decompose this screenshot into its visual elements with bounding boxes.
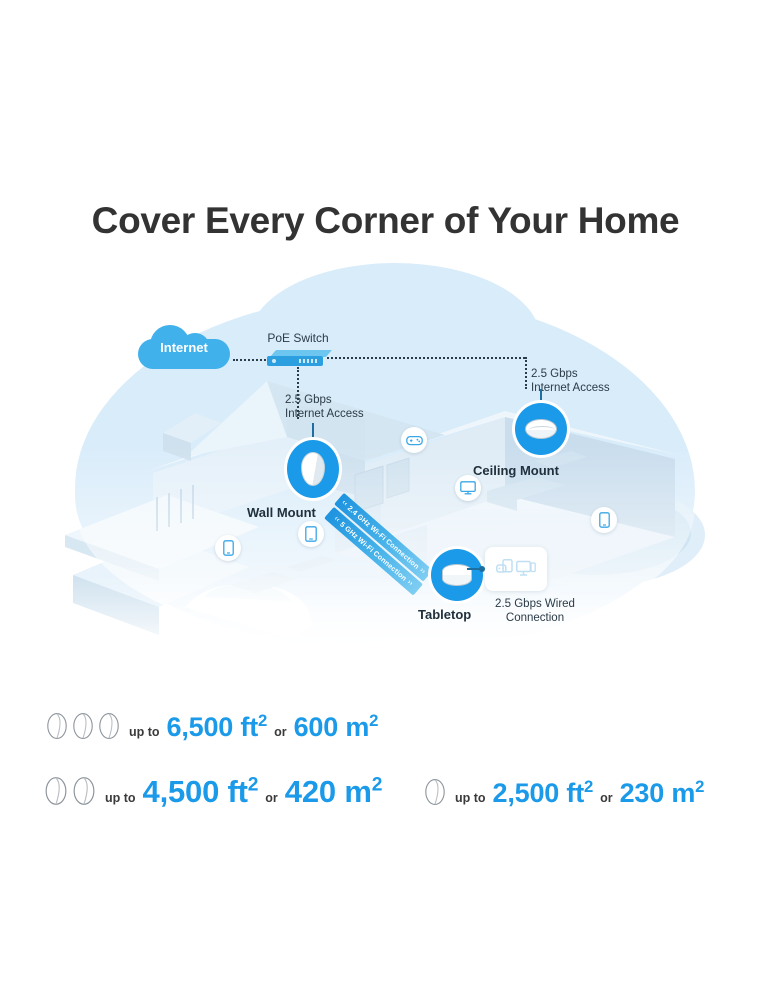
chevron-right-icon: ›› xyxy=(404,577,417,590)
smartphone-icon xyxy=(223,540,234,556)
ap-outline-icon xyxy=(424,778,446,806)
coverage-sqm-value: 420 m2 xyxy=(285,774,382,810)
wall-mount-label: Wall Mount xyxy=(247,505,316,520)
sqft-superscript: 2 xyxy=(248,775,258,796)
pack-icons-three xyxy=(46,712,120,740)
ap-outline-icon xyxy=(46,712,68,740)
coverage-or-label: or xyxy=(265,791,278,805)
ap-outline-icon xyxy=(44,776,68,806)
pack-icons-one xyxy=(424,778,446,806)
ap-outline-icon xyxy=(98,712,120,740)
ap-outline-icon xyxy=(72,776,96,806)
sqft-superscript: 2 xyxy=(258,711,267,730)
coverage-upto-label: up to xyxy=(455,791,486,805)
client-badge-garage-phone xyxy=(215,535,241,561)
coverage-or-label: or xyxy=(600,791,613,805)
coverage-sqm-value: 230 m2 xyxy=(620,777,705,809)
client-badge-living-gamepad xyxy=(401,427,427,453)
coverage-sqm-value: 600 m2 xyxy=(294,711,379,743)
sqm-superscript: 2 xyxy=(372,775,382,796)
monitor-icon xyxy=(516,560,536,578)
wall-mount-access-point[interactable] xyxy=(287,440,339,498)
tabletop-note-line1: 2.5 Gbps Wired xyxy=(475,597,595,611)
monitor-icon xyxy=(460,481,476,495)
coverage-upto-label: up to xyxy=(105,791,136,805)
sqm-superscript: 2 xyxy=(695,777,704,796)
egg-shaped-ap-icon xyxy=(301,452,325,486)
coverage-upto-label: up to xyxy=(129,725,160,739)
coverage-sqft-value: 2,500 ft2 xyxy=(493,777,594,809)
client-badge-hallway-tablet xyxy=(298,521,324,547)
link-internet-to-switch xyxy=(233,359,269,361)
link-switch-to-ceiling-v xyxy=(525,357,527,389)
coverage-sqft-value: 4,500 ft2 xyxy=(143,774,259,810)
smartphone-icon xyxy=(599,512,610,528)
ceiling-mount-access-point[interactable] xyxy=(515,403,567,455)
promo-page: Cover Every Corner of Your Home xyxy=(0,0,771,1000)
sqft-superscript: 2 xyxy=(584,777,593,796)
pack-icons-two xyxy=(44,776,96,806)
tabletop-note-line2: Connection xyxy=(475,611,595,625)
sqm-superscript: 2 xyxy=(369,711,378,730)
wired-devices-card xyxy=(485,547,547,591)
client-badge-bedroom-monitor xyxy=(455,475,481,501)
internet-cloud-icon: Internet xyxy=(138,323,230,369)
wall-mount-note-line2: Internet Access xyxy=(285,407,364,421)
coverage-row-three-pack: up to 6,500 ft2 or 600 m2 xyxy=(46,708,378,743)
ceiling-mount-label: Ceiling Mount xyxy=(473,463,559,478)
poe-switch-label: PoE Switch xyxy=(233,331,363,345)
coverage-sqft-value: 6,500 ft2 xyxy=(167,711,268,743)
ceiling-mount-note: 2.5 Gbps Internet Access xyxy=(531,367,610,396)
wall-mount-note: 2.5 Gbps Internet Access xyxy=(285,393,364,422)
internet-label: Internet xyxy=(138,340,230,355)
ceiling-mount-note-line1: 2.5 Gbps xyxy=(531,367,610,381)
disc-shaped-ap-icon xyxy=(525,419,557,439)
chevron-right-icon: ›› xyxy=(416,565,429,578)
page-title: Cover Every Corner of Your Home xyxy=(0,200,771,242)
tablet-icon xyxy=(305,526,317,542)
coverage-or-label: or xyxy=(274,725,287,739)
home-coverage-diagram: Internet PoE Switch 2.5 Gbps Internet Ac… xyxy=(35,285,735,655)
tabletop-note: 2.5 Gbps Wired Connection xyxy=(475,597,595,626)
network-switch-icon xyxy=(267,350,329,367)
wall-mount-note-line1: 2.5 Gbps xyxy=(285,393,364,407)
client-badge-patio-phone xyxy=(591,507,617,533)
ceiling-mount-note-line2: Internet Access xyxy=(531,381,610,395)
coverage-row-one-pack: up to 2,500 ft2 or 230 m2 xyxy=(424,774,704,809)
coverage-row-two-pack: up to 4,500 ft2 or 420 m2 xyxy=(44,772,382,810)
game-controller-icon xyxy=(406,435,423,446)
tabletop-access-point[interactable] xyxy=(431,549,483,601)
tabletop-label: Tabletop xyxy=(418,607,471,622)
game-console-icon xyxy=(496,559,513,579)
link-switch-to-ceiling-h xyxy=(327,357,525,359)
ap-outline-icon xyxy=(72,712,94,740)
